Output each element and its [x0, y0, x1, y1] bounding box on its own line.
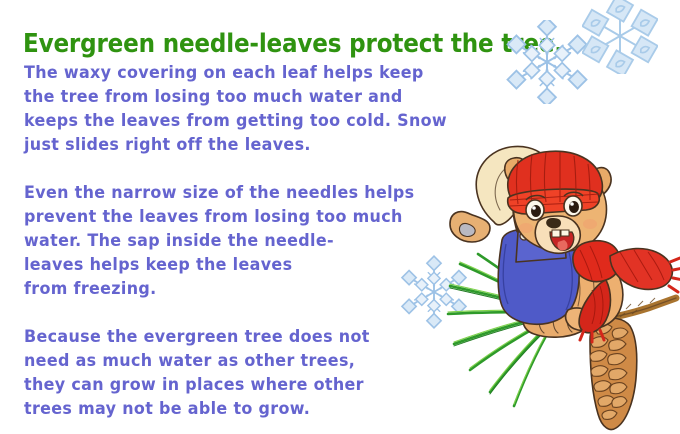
- body-copy: The waxy covering on each leaf helps kee…: [24, 61, 504, 421]
- paragraph-1: The waxy covering on each leaf helps kee…: [24, 61, 504, 157]
- paragraph-2: Even the narrow size of the needles help…: [24, 181, 504, 301]
- page-title: Evergreen needle-leaves protect the tree…: [23, 30, 512, 58]
- red-scarf: [573, 241, 680, 342]
- paragraph-3: Because the evergreen tree does not need…: [24, 325, 504, 421]
- pine-branch: [536, 298, 676, 323]
- chipmunk-head: [505, 151, 611, 253]
- chipmunk-body: [498, 196, 623, 337]
- worksheet-page: Evergreen needle-leaves protect the tree…: [0, 0, 680, 434]
- pine-cone: [590, 318, 637, 429]
- snowflake-icon: [582, 0, 658, 74]
